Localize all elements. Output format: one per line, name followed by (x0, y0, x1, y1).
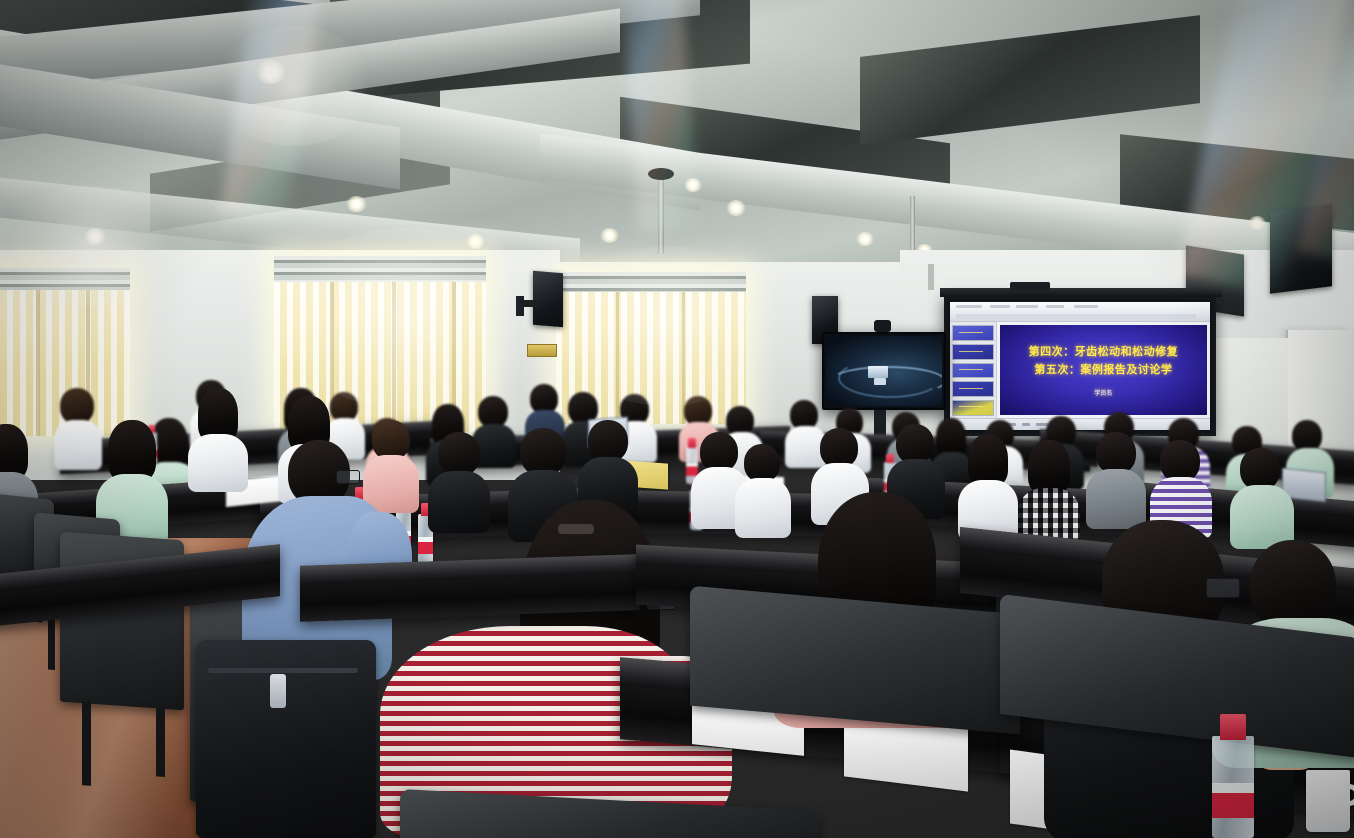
projector-mount-base (648, 168, 674, 180)
slide-heading-line-1: 第四次：牙齿松动和松动修复 (1029, 343, 1179, 359)
projector-drop-rod (928, 264, 934, 290)
screen-top-rail (940, 288, 1222, 297)
window-blind-header (0, 268, 130, 290)
slide-heading-line-2: 第五次：案例报告及讨论学 (1034, 361, 1172, 377)
ceiling-downlight (466, 234, 485, 249)
window-blind-header (556, 272, 746, 292)
backpack-seam (208, 668, 358, 673)
projection-screen: 第四次：牙齿松动和松动修复 第五次：案例报告及讨论学 学员名 (944, 296, 1216, 436)
mug-handle (1344, 784, 1354, 806)
tv-logo-box (868, 366, 888, 378)
ceiling-downlight (1248, 216, 1266, 230)
coffee-mug (1306, 770, 1350, 832)
window-mullion (392, 282, 396, 432)
backpack (196, 640, 376, 838)
slide-thumbnail[interactable] (952, 363, 994, 379)
ceiling-downlight (256, 60, 286, 84)
slide-thumbnail[interactable] (952, 344, 994, 360)
tv-logo-base (874, 378, 886, 385)
window-mullion (616, 292, 619, 424)
speaker-bracket (516, 296, 524, 316)
wall-speaker-right (1270, 204, 1332, 294)
lecture-hall-photo: 第四次：牙齿松动和松动修复 第五次：案例报告及讨论学 学员名 (0, 0, 1354, 838)
slide-subtitle: 学员名 (1094, 388, 1112, 397)
tv-screensaver (826, 336, 942, 406)
ceiling-downlight (84, 228, 106, 245)
ceiling-downlight (600, 228, 619, 243)
backpack-zipper-pull (270, 674, 286, 708)
desk-row-near (300, 554, 640, 622)
glasses-icon (1206, 578, 1240, 598)
flat-panel-tv (822, 332, 946, 410)
window-mullion (36, 290, 40, 436)
screen-camera-mount (1010, 282, 1050, 291)
app-body: 第四次：牙齿松动和松动修复 第五次：案例报告及讨论学 学员名 (950, 322, 1210, 418)
projector-mount-pole (658, 176, 664, 254)
ceiling-downlight (726, 200, 746, 216)
hair-clip (558, 524, 594, 534)
video-camera-icon (874, 320, 891, 332)
ceiling-downlight (684, 178, 702, 192)
slide-thumbnail-panel[interactable] (950, 322, 997, 418)
wall-plaque (527, 344, 557, 357)
window-blind-header (274, 256, 486, 282)
active-slide[interactable]: 第四次：牙齿松动和松动修复 第五次：案例报告及讨论学 学员名 (1000, 325, 1207, 415)
slide-thumbnail[interactable] (952, 400, 994, 416)
ceiling-downlight (346, 196, 367, 212)
slide-thumbnail[interactable] (952, 381, 994, 397)
glasses-icon (336, 470, 360, 484)
water-bottle-foreground (1212, 736, 1254, 838)
slide-thumbnail[interactable] (952, 325, 994, 341)
presentation-app[interactable]: 第四次：牙齿松动和松动修复 第五次：案例报告及讨论学 学员名 (950, 302, 1210, 430)
ceiling-downlight (856, 232, 874, 246)
ceiling-recess (860, 15, 1200, 145)
app-ribbon-toolbar[interactable] (950, 302, 1210, 322)
wall-speaker (533, 271, 563, 328)
